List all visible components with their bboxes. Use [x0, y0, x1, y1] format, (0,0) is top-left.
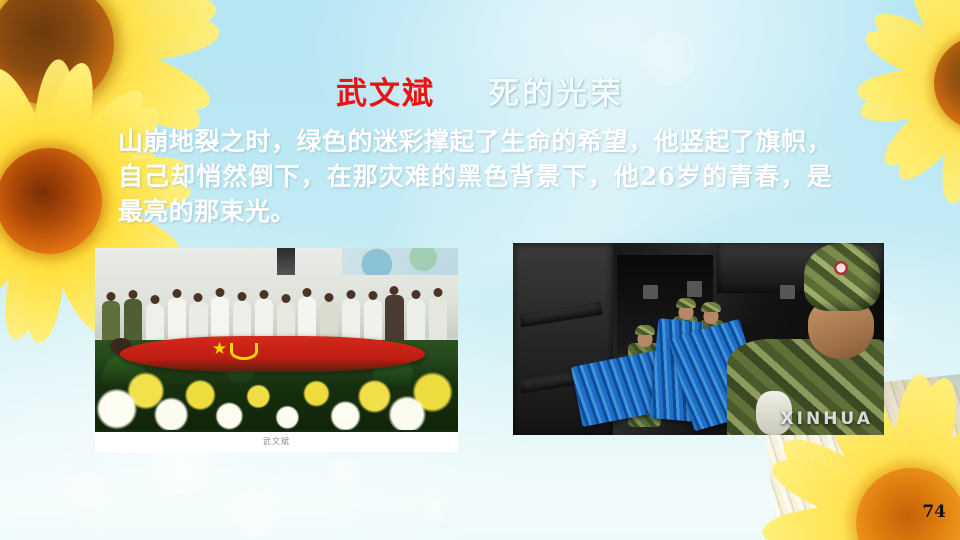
- soldier-foreground: [727, 243, 884, 435]
- slide-canvas: 武文斌 死的光荣 山崩地裂之时，绿色的迷彩撑起了生命的希望，他竖起了旗帜，自己却…: [0, 0, 960, 540]
- photo-soldiers-unloading: XINHUA: [513, 243, 884, 435]
- helmet-badge-icon: [834, 261, 848, 275]
- photo-funeral: ★ 武文斌: [95, 248, 458, 452]
- party-flag-star-icon: ★: [212, 340, 227, 357]
- title-name-red: 武文斌: [336, 76, 435, 112]
- soldier-foreground-helmet-icon: [804, 243, 881, 311]
- funeral-dark-column: [277, 248, 295, 275]
- truck-window: [687, 281, 702, 296]
- slide-title: 武文斌 死的光荣: [0, 68, 960, 113]
- photo-caption-text: 武文斌: [263, 436, 290, 447]
- party-flag-sickle-icon: [230, 343, 258, 360]
- soldier-helmet-icon: [701, 302, 721, 312]
- soldier-helmet-icon: [676, 298, 696, 308]
- truck-window: [643, 285, 658, 298]
- page-number: 74: [922, 502, 946, 522]
- funeral-wall-mural: [342, 248, 458, 275]
- funeral-flower-wreaths: [95, 360, 458, 429]
- title-subtitle-white: 死的光荣: [488, 76, 624, 112]
- soldier-helmet-icon: [635, 325, 655, 335]
- body-paragraph: 山崩地裂之时，绿色的迷彩撑起了生命的希望，他竖起了旗帜，自己却悄然倒下，在那灾难…: [118, 124, 832, 229]
- xinhua-watermark: XINHUA: [781, 409, 873, 429]
- photo-caption-bar: 武文斌: [95, 432, 458, 452]
